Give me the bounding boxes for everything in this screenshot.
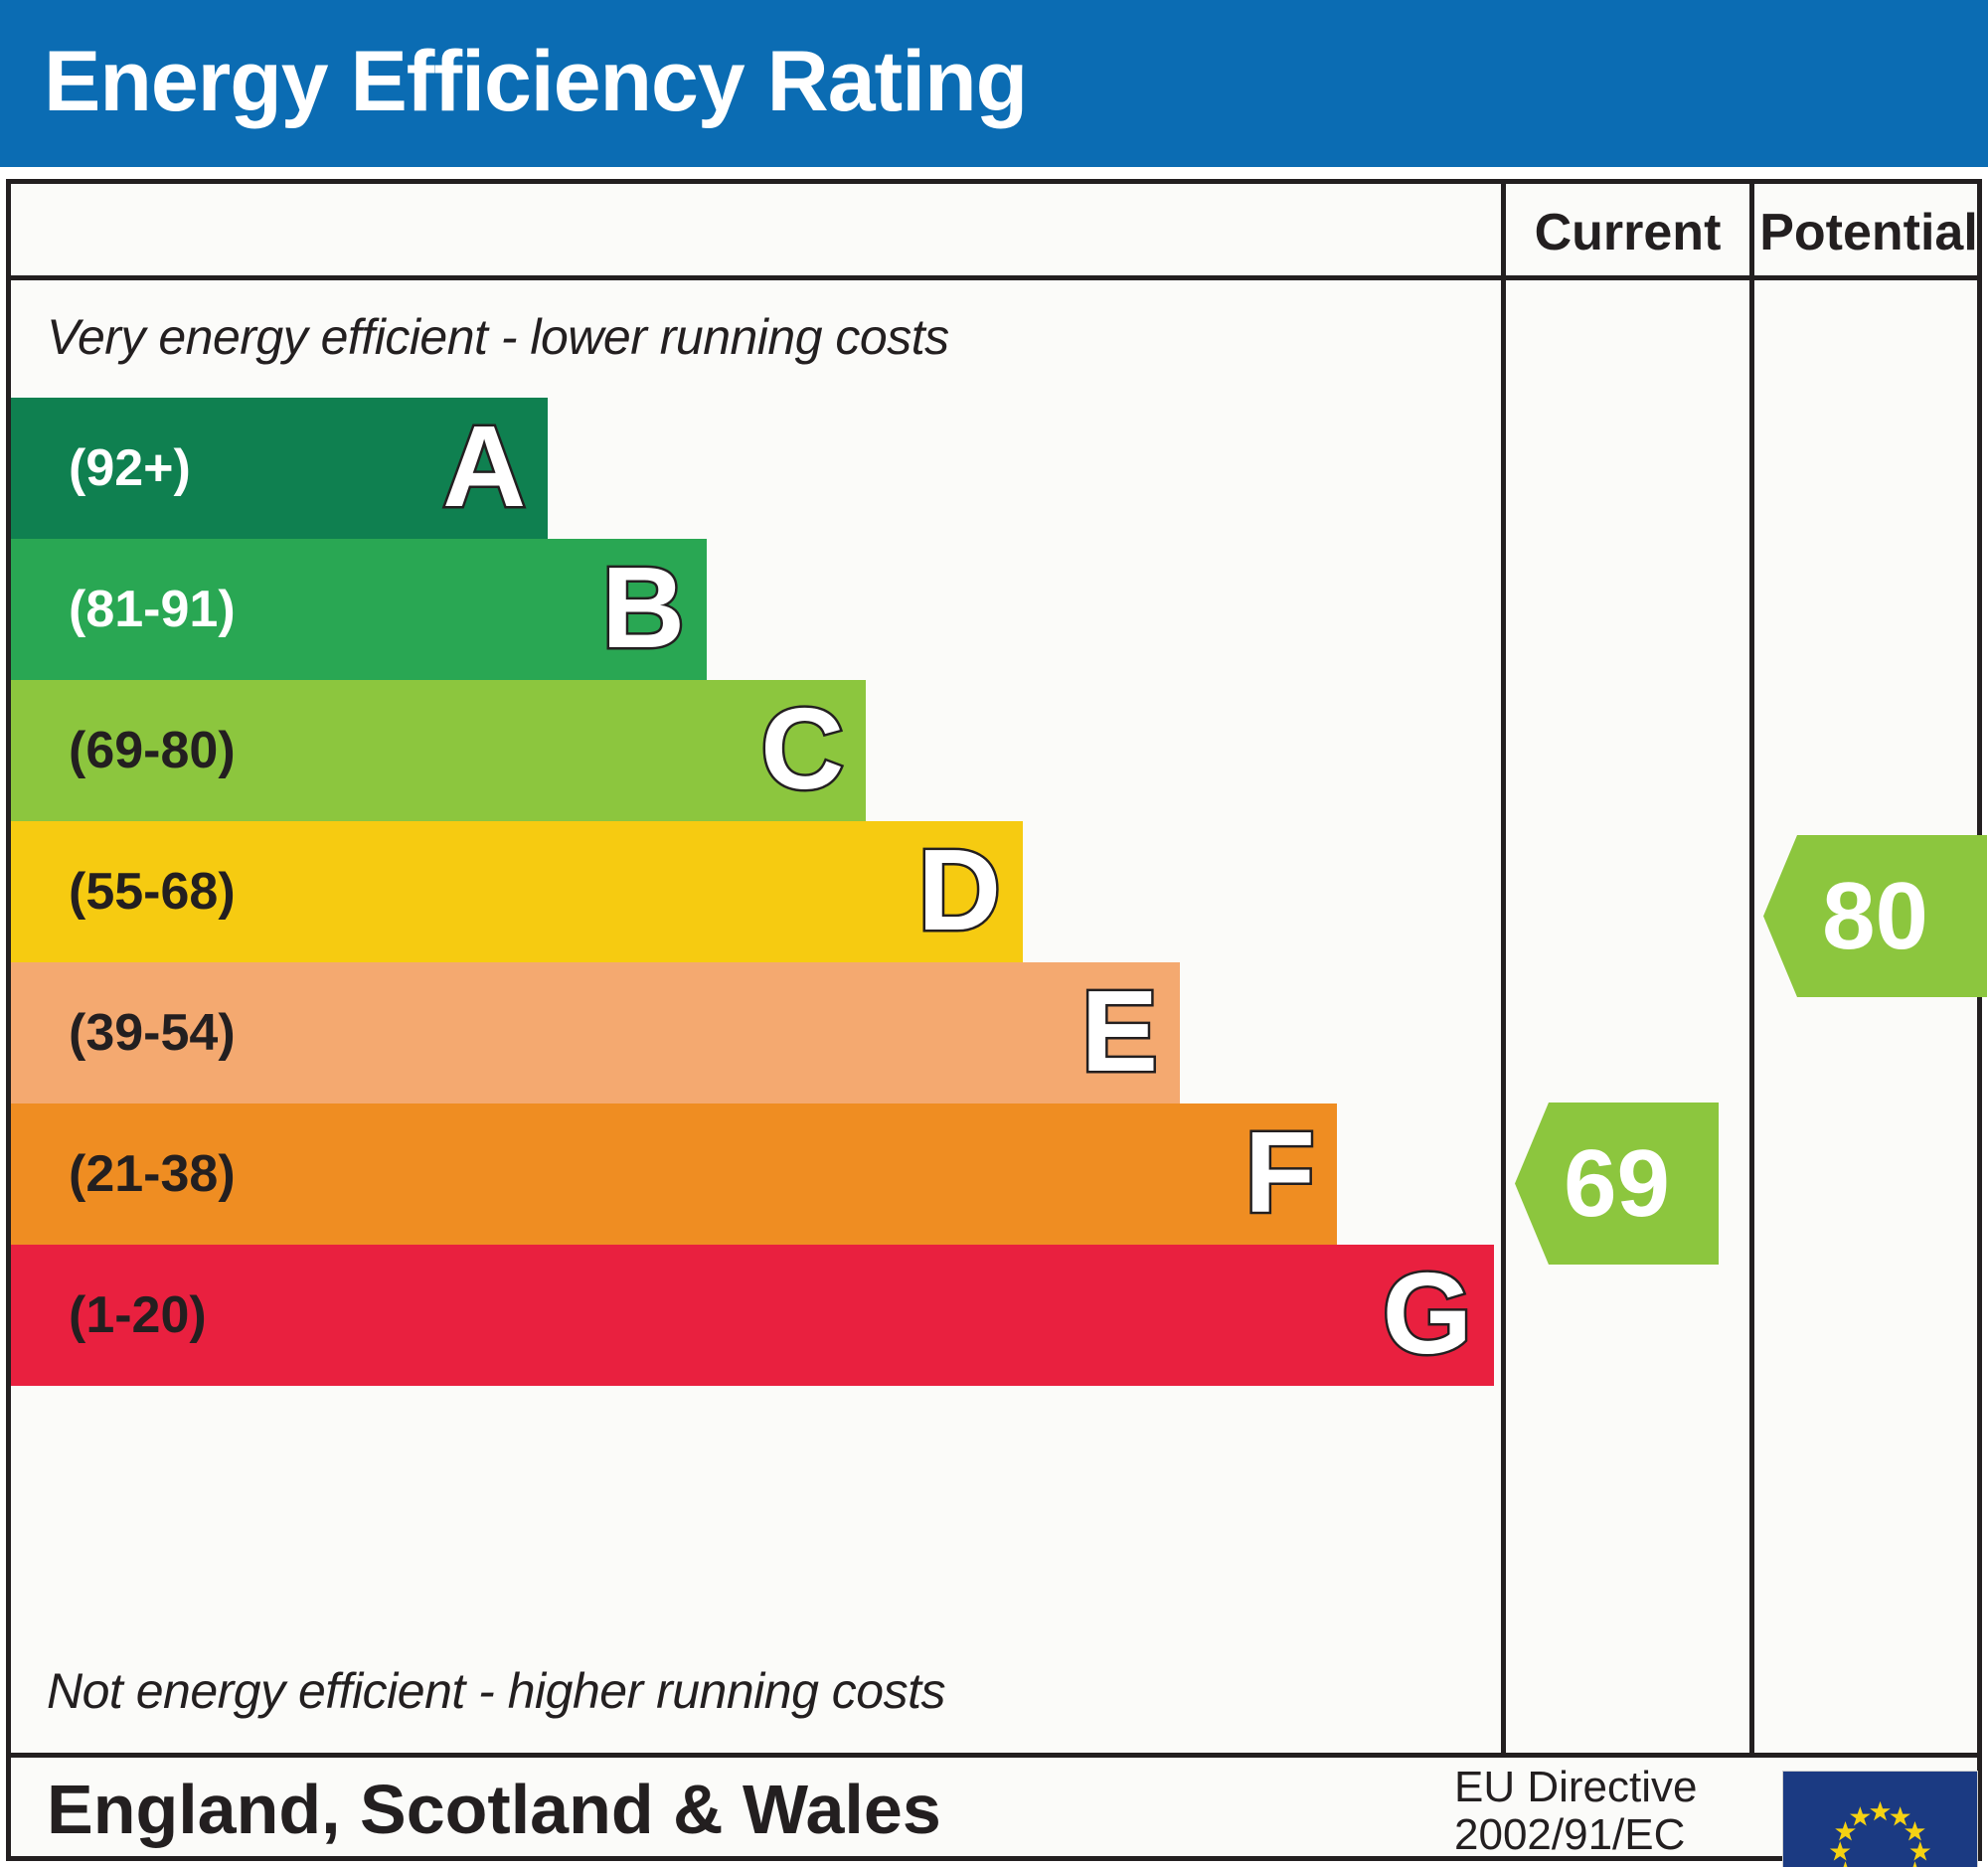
- eu-directive-line2: 2002/91/EC: [1454, 1811, 1752, 1859]
- band-e-letter: E: [1081, 962, 1158, 1103]
- footer-row: England, Scotland & Wales EU Directive 2…: [11, 1753, 1977, 1856]
- band-f-range: (21-38): [69, 1103, 236, 1245]
- divider-chart-current: [1501, 184, 1506, 1758]
- eu-flag-icon: [1782, 1771, 1978, 1867]
- eu-directive-text: EU Directive 2002/91/EC: [1454, 1764, 1752, 1859]
- band-b-range: (81-91): [69, 539, 236, 680]
- current-rating-pointer: 69: [1515, 1103, 1719, 1265]
- band-a-letter: A: [442, 398, 526, 539]
- band-f: (21-38) F: [11, 1103, 1337, 1245]
- band-a-range: (92+): [69, 398, 191, 539]
- band-d: (55-68) D: [11, 821, 1023, 962]
- column-header-current: Current: [1506, 198, 1749, 267]
- rating-bands-chart: Very energy efficient - lower running co…: [11, 280, 1501, 1758]
- band-c: (69-80) C: [11, 680, 866, 821]
- rating-table: Current Potential Very energy efficient …: [6, 179, 1982, 1861]
- title-banner: Energy Efficiency Rating: [0, 0, 1988, 167]
- band-g-letter: G: [1383, 1245, 1472, 1386]
- band-a: (92+) A: [11, 398, 548, 539]
- potential-rating-pointer: 80: [1763, 835, 1987, 997]
- band-b: (81-91) B: [11, 539, 707, 680]
- band-c-range: (69-80): [69, 680, 236, 821]
- column-header-potential: Potential: [1754, 198, 1983, 267]
- caption-very-efficient: Very energy efficient - lower running co…: [47, 308, 949, 366]
- band-e: (39-54) E: [11, 962, 1180, 1103]
- footer-region-label: England, Scotland & Wales: [47, 1764, 941, 1855]
- band-e-range: (39-54): [69, 962, 236, 1103]
- band-g-range: (1-20): [69, 1245, 207, 1386]
- band-b-letter: B: [601, 539, 685, 680]
- caption-not-efficient: Not energy efficient - higher running co…: [47, 1662, 945, 1720]
- divider-current-potential: [1749, 184, 1754, 1758]
- eu-directive-line1: EU Directive: [1454, 1764, 1752, 1811]
- column-header-row: Current Potential: [11, 184, 1977, 280]
- band-f-letter: F: [1244, 1103, 1315, 1245]
- energy-efficiency-certificate: Energy Efficiency Rating Current Potenti…: [0, 0, 1988, 1867]
- band-d-range: (55-68): [69, 821, 236, 962]
- band-c-letter: C: [760, 680, 844, 821]
- band-d-letter: D: [917, 821, 1001, 962]
- band-g: (1-20) G: [11, 1245, 1494, 1386]
- page-title: Energy Efficiency Rating: [44, 22, 1027, 141]
